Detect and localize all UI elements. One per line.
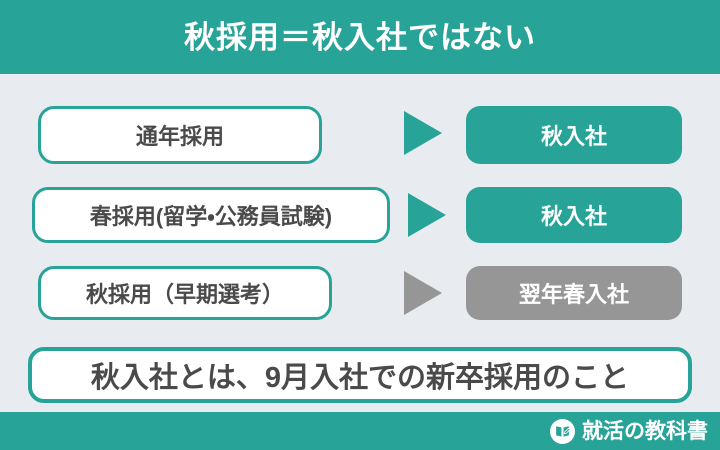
infographic-canvas: 秋採用＝秋入社ではない 通年採用 秋入社 春採用(留学・公務員試験) 秋入社 秋… (0, 0, 720, 450)
triangle-right-icon (404, 271, 442, 315)
row-2-right-label: 秋入社 (541, 199, 607, 231)
row-3-right-label: 翌年春入社 (519, 277, 629, 309)
row-3-left-pill: 秋採用（早期選考） (38, 266, 332, 320)
brand-logo-text: 就活の教科書 (582, 421, 708, 442)
triangle-right-icon (408, 193, 446, 237)
book-pencil-icon (550, 419, 575, 444)
row-1-right-label: 秋入社 (541, 119, 607, 151)
row-1-left-label: 通年採用 (136, 119, 224, 151)
row-3-left-label: 秋採用（早期選考） (86, 277, 284, 309)
row-2-left-label: 春採用(留学・公務員試験) (90, 199, 332, 231)
summary-banner-text: 秋入社とは、9月入社での新卒採用のこと (91, 354, 629, 396)
triangle-right-icon (404, 111, 442, 155)
row-2-left-pill: 春採用(留学・公務員試験) (32, 187, 390, 243)
page-title: 秋採用＝秋入社ではない (184, 22, 536, 53)
row-1-right-pill: 秋入社 (466, 106, 682, 164)
footer-bar: 就活の教科書 (0, 412, 720, 450)
brand-logo: 就活の教科書 (550, 419, 708, 444)
row-3-right-pill: 翌年春入社 (466, 266, 682, 320)
row-1-left-pill: 通年採用 (38, 106, 322, 164)
row-2-right-pill: 秋入社 (466, 187, 682, 243)
summary-banner: 秋入社とは、9月入社での新卒採用のこと (28, 347, 692, 403)
header-bar: 秋採用＝秋入社ではない (0, 0, 720, 74)
